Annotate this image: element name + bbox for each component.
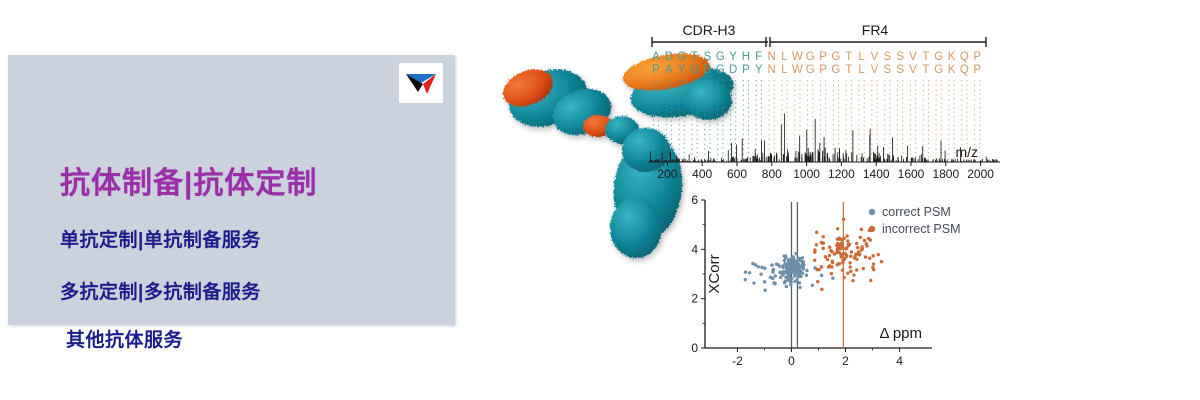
seq-row2-residue: S	[896, 64, 904, 76]
scatter-point-correct	[752, 281, 755, 284]
mass-spectrum-plot: 200400600800100012001400160018002000 m/z	[648, 113, 1000, 181]
scatter-point-correct	[789, 280, 792, 283]
scatter-point-incorrect	[830, 250, 833, 253]
scatter-point-incorrect	[831, 261, 834, 264]
seq-row2-residue: T	[922, 64, 929, 76]
seq-row2-residue: P	[742, 64, 750, 76]
spectrum-peaks	[651, 113, 998, 162]
seq-row2-residue: Y	[678, 64, 686, 76]
scatter-point-incorrect	[836, 263, 839, 266]
scatter-point-incorrect	[855, 258, 858, 261]
seq-row1-residue: P	[973, 51, 981, 63]
seq-row1-residue: T	[691, 51, 698, 63]
scatter-point-incorrect	[820, 265, 823, 268]
scatter-point-incorrect	[864, 255, 867, 258]
seq-row2-residue: T	[845, 64, 852, 76]
scatter-point-correct	[805, 269, 808, 272]
scatter-point-correct	[801, 265, 804, 268]
scatter-point-incorrect	[869, 279, 872, 282]
scatter-point-incorrect	[816, 280, 819, 283]
seq-row1-residue: G	[831, 51, 840, 63]
region-label-cdrh3: CDR-H3	[683, 22, 736, 38]
scatter-point-incorrect	[844, 252, 847, 255]
seq-row1-residue: G	[934, 51, 943, 63]
legend-dot-incorrect	[869, 226, 875, 232]
spectrum-tick-label: 200	[657, 167, 677, 181]
scatter-point-incorrect	[815, 243, 818, 246]
scatter-point-correct	[774, 274, 777, 277]
scatter-point-incorrect	[830, 272, 833, 275]
seq-row2-residue: P	[819, 64, 827, 76]
seq-row2-residue: V	[871, 64, 879, 76]
scatter-point-incorrect	[845, 247, 848, 250]
antibody-service-panel: 抗体制备|抗体定制 单抗定制|单抗制备服务 多抗定制|多抗制备服务 其他抗体服务	[8, 55, 455, 325]
scatter-point-incorrect	[822, 235, 825, 238]
seq-row2-residue: D	[703, 64, 711, 76]
scatter-point-incorrect	[842, 218, 845, 221]
scatter-point-incorrect	[859, 236, 862, 239]
scatter-point-correct	[798, 286, 801, 289]
scatter-point-correct	[805, 274, 808, 277]
scatter-point-correct	[781, 266, 784, 269]
seq-row2-residue: G	[716, 64, 725, 76]
scatter-point-correct	[787, 275, 790, 278]
scatter-point-incorrect	[836, 247, 839, 250]
scatter-point-correct	[744, 270, 747, 273]
scatter-point-correct	[771, 277, 774, 280]
spectrum-tick-label: 1200	[828, 167, 855, 181]
scatter-point-incorrect	[860, 228, 863, 231]
seq-row1-residue: S	[883, 51, 891, 63]
scatter-point-incorrect	[824, 255, 827, 258]
seq-row1-residue: V	[909, 51, 917, 63]
seq-row1-residue: S	[704, 51, 712, 63]
spectrum-tick-label: 1400	[863, 167, 890, 181]
service-link-monoclonal[interactable]: 单抗定制|单抗制备服务	[60, 225, 261, 252]
seq-row2-residue: W	[792, 64, 803, 76]
scatter-xlabel: Δ ppm	[879, 325, 922, 342]
scatter-point-correct	[811, 284, 814, 287]
scatter-point-incorrect	[862, 267, 865, 270]
scatter-point-incorrect	[852, 273, 855, 276]
seq-row1-residue: P	[819, 51, 827, 63]
scatter-point-correct	[775, 263, 778, 266]
scatter-ylabel: XCorr	[706, 254, 723, 293]
seq-row1-residue: T	[922, 51, 929, 63]
scatter-point-incorrect	[867, 237, 870, 240]
scatter-point-incorrect	[836, 227, 839, 230]
scatter-point-correct	[831, 276, 834, 279]
scatter-point-incorrect	[846, 272, 849, 275]
seq-row2-residue: P	[652, 64, 660, 76]
sequence-region-ruler: CDR-H3 FR4	[652, 22, 986, 47]
scatter-point-correct	[782, 254, 785, 257]
scatter-point-incorrect	[872, 254, 875, 257]
scatter-point-incorrect	[840, 242, 843, 245]
seq-row1-residue: Y	[729, 51, 737, 63]
page-title: 抗体制备|抗体定制	[60, 158, 317, 202]
scatter-point-incorrect	[865, 242, 868, 245]
scatter-point-incorrect	[843, 276, 846, 279]
seq-row1-residue: L	[858, 51, 865, 63]
scatter-point-correct	[779, 276, 782, 279]
seq-row1-residue: D	[665, 51, 673, 63]
scatter-point-incorrect	[828, 246, 831, 249]
scatter-point-correct	[778, 265, 781, 268]
scatter-point-correct	[770, 263, 773, 266]
seq-row2-residue: G	[934, 64, 943, 76]
scatter-ytick-label: 6	[691, 193, 698, 207]
scatter-point-correct	[778, 271, 781, 274]
seq-row2-residue: Y	[755, 64, 763, 76]
scatter-point-correct	[783, 281, 786, 284]
scatter-point-incorrect	[855, 268, 858, 271]
spectrum-tick-label: 400	[692, 167, 712, 181]
seq-row2-residue: L	[858, 64, 865, 76]
scatter-point-incorrect	[846, 239, 849, 242]
scatter-point-incorrect	[830, 265, 833, 268]
seq-row2-residue: V	[909, 64, 917, 76]
region-label-fr4: FR4	[862, 22, 889, 38]
spectrum-tick-label: 2000	[967, 167, 994, 181]
spectrum-xlabel: m/z	[955, 144, 978, 160]
scatter-point-incorrect	[849, 255, 852, 258]
seq-row1-residue: Q	[960, 51, 969, 63]
scatter-legend: correct PSM incorrect PSM	[869, 205, 961, 236]
scatter-point-correct	[787, 272, 790, 275]
seq-row1-residue: N	[767, 51, 775, 63]
scatter-point-incorrect	[880, 260, 883, 263]
seq-row2-residue: G	[831, 64, 840, 76]
spectrum-tick-label: 800	[762, 167, 782, 181]
legend-dot-correct	[869, 209, 875, 215]
scatter-point-correct	[785, 285, 788, 288]
spectrum-tick-label: 1000	[793, 167, 820, 181]
scatter-point-correct	[787, 264, 790, 267]
seq-row1-residue: G	[716, 51, 725, 63]
scatter-point-incorrect	[821, 247, 824, 250]
scatter-ytick-label: 0	[691, 341, 698, 355]
scatter-point-incorrect	[839, 247, 842, 250]
seq-row2-residue: K	[948, 64, 956, 76]
scatter-points	[744, 218, 884, 292]
scatter-point-correct	[798, 281, 801, 284]
seq-row1-residue: L	[781, 51, 788, 63]
scatter-ytick-label: 4	[691, 242, 698, 256]
seq-row1-residue: V	[871, 51, 879, 63]
scatter-point-correct	[791, 261, 794, 264]
scatter-point-incorrect	[863, 239, 866, 242]
seq-row1-residue: K	[948, 51, 956, 63]
scatter-point-incorrect	[858, 253, 861, 256]
scatter-point-incorrect	[815, 231, 818, 234]
scatter-point-incorrect	[820, 288, 823, 291]
scatter-point-incorrect	[817, 268, 820, 271]
scatter-point-correct	[820, 274, 823, 277]
scatter-point-correct	[754, 263, 757, 266]
scatter-point-incorrect	[848, 265, 851, 268]
service-link-polyclonal[interactable]: 多抗定制|多抗制备服务	[60, 277, 261, 304]
scatter-point-correct	[757, 265, 760, 268]
scatter-point-incorrect	[855, 242, 858, 245]
scatter-point-correct	[763, 280, 766, 283]
spectrum-axis-ticks: 200400600800100012001400160018002000	[657, 162, 994, 181]
scatter-point-incorrect	[838, 237, 841, 240]
scatter-point-correct	[744, 278, 747, 281]
service-link-other[interactable]: 其他抗体服务	[66, 325, 183, 352]
antibody-sequencing-figure: CDR-H3 FR4 ADGTSGYHFNLWGPGTLVSSVTGKQPPAY…	[470, 0, 1200, 400]
scatter-xtick-label: 2	[842, 354, 849, 368]
scatter-point-incorrect	[861, 247, 864, 250]
scatter-point-incorrect	[877, 253, 880, 256]
scatter-point-correct	[794, 252, 797, 255]
scatter-point-incorrect	[813, 250, 816, 253]
scatter-point-correct	[792, 264, 795, 267]
spectrum-tick-label: 1600	[898, 167, 925, 181]
scatter-point-correct	[797, 257, 800, 260]
seq-row2-residue: P	[973, 64, 981, 76]
company-logo	[399, 63, 443, 103]
scatter-point-incorrect	[872, 262, 875, 265]
scatter-point-incorrect	[872, 268, 875, 271]
spectrum-tick-label: 1800	[932, 167, 959, 181]
scatter-xtick-label: -2	[732, 354, 743, 368]
scatter-point-incorrect	[820, 241, 823, 244]
scatter-point-incorrect	[813, 258, 816, 261]
seq-row1-residue: G	[806, 51, 815, 63]
scatter-point-incorrect	[848, 261, 851, 264]
scatter-point-incorrect	[828, 254, 831, 257]
scatter-point-incorrect	[868, 257, 871, 260]
seq-row2-residue: Q	[960, 64, 969, 76]
scatter-point-incorrect	[836, 251, 839, 254]
seq-row1-residue: S	[896, 51, 904, 63]
figure-canvas: CDR-H3 FR4 ADGTSGYHFNLWGPGTLVSSVTGKQPPAY…	[470, 0, 1200, 400]
seq-row2-residue: L	[781, 64, 788, 76]
scatter-point-incorrect	[854, 254, 857, 257]
scatter-point-correct	[795, 278, 798, 281]
seq-row1-residue: A	[652, 51, 660, 63]
seq-row1-residue: F	[755, 51, 762, 63]
seq-row2-residue: S	[883, 64, 891, 76]
legend-label-incorrect: incorrect PSM	[882, 222, 961, 236]
scatter-xtick-label: 4	[896, 354, 903, 368]
seq-row2-residue: G	[690, 64, 699, 76]
seq-row2-residue: N	[767, 64, 775, 76]
scatter-point-correct	[797, 275, 800, 278]
scatter-point-incorrect	[845, 234, 848, 237]
scatter-point-incorrect	[849, 270, 852, 273]
scatter-point-correct	[773, 282, 776, 285]
scatter-point-incorrect	[841, 261, 844, 264]
scatter-point-correct	[771, 270, 774, 273]
legend-label-correct: correct PSM	[882, 205, 951, 219]
scatter-point-correct	[748, 271, 751, 274]
scatter-ytick-label: 2	[691, 292, 698, 306]
scatter-point-incorrect	[848, 243, 851, 246]
scatter-point-incorrect	[835, 244, 838, 247]
scatter-point-incorrect	[850, 250, 853, 253]
scatter-xtick-label: 0	[788, 354, 795, 368]
spectrum-tick-label: 600	[727, 167, 747, 181]
seq-row1-residue: H	[742, 51, 750, 63]
scatter-point-correct	[760, 266, 763, 269]
scatter-point-correct	[783, 262, 786, 265]
scatter-point-incorrect	[844, 255, 847, 258]
psm-scatter-plot: -20240246 XCorr Δ ppm correct PSM incorr…	[691, 193, 960, 368]
scatter-point-correct	[785, 266, 788, 269]
seq-row2-residue: A	[665, 64, 673, 76]
seq-row1-residue: W	[792, 51, 803, 63]
scatter-point-correct	[801, 262, 804, 265]
scatter-point-incorrect	[841, 268, 844, 271]
seq-row1-residue: G	[677, 51, 686, 63]
scatter-point-correct	[759, 273, 762, 276]
scatter-point-incorrect	[851, 279, 854, 282]
logo-icon	[399, 63, 443, 103]
scatter-point-correct	[787, 259, 790, 262]
scatter-point-correct	[791, 269, 794, 272]
seq-row1-residue: T	[845, 51, 852, 63]
antibody-3d-structure	[498, 48, 738, 258]
seq-row2-residue: G	[806, 64, 815, 76]
scatter-point-correct	[796, 264, 799, 267]
scatter-point-correct	[795, 272, 798, 275]
scatter-point-correct	[763, 289, 766, 292]
seq-row2-residue: D	[729, 64, 737, 76]
scatter-point-incorrect	[856, 246, 859, 249]
